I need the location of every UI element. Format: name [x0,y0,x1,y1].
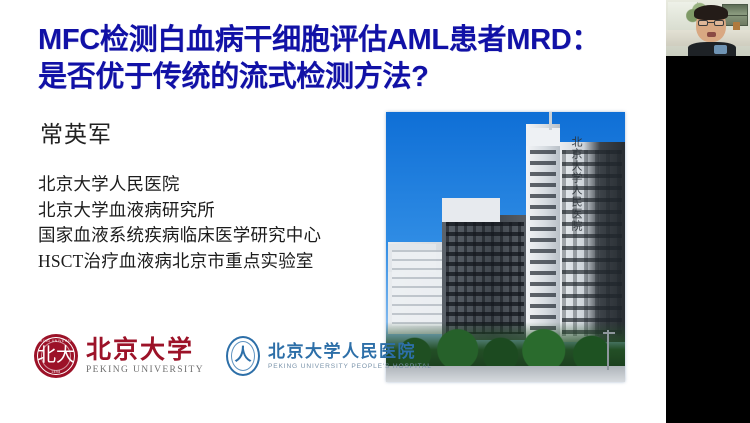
screen-capture-stage: MFC检测白血病干细胞评估AML患者MRD： 是否优于传统的流式检测方法? 常英… [0,0,750,423]
slide-title: MFC检测白血病干细胞评估AML患者MRD： 是否优于传统的流式检测方法? [38,22,658,96]
institution-logos: PEKING UNIVERSITY 北大 1898 北京大学 PEKING UN… [34,334,432,378]
photo-tower-spire [549,112,552,130]
seal-person-glyph: 人 [228,347,258,364]
photo-street-lamp-post [607,330,609,370]
photo-central-tower-windows [530,150,556,336]
presenter-glasses-bridge [708,22,714,23]
photo-mid-building-roof [442,198,500,222]
logo-peking-university: PEKING UNIVERSITY 北大 1898 北京大学 PEKING UN… [34,334,204,378]
presenter-shoulders [688,42,736,56]
peoples-hospital-wordmark: 北京大学人民医院 PEKING UNIVERSITY PEOPLE'S HOSP… [268,342,432,370]
presenter-webcam-tile[interactable] [666,0,750,56]
presenter-mouth [707,32,716,37]
affiliation-line: 北京大学人民医院 [38,172,321,198]
seal-ring-text-top: PEKING UNIVERSITY [34,339,78,343]
affiliation-line: 国家血液系统疾病临床医学研究中心 [38,223,321,249]
logo-peking-university-peoples-hospital: 人 北京大学人民医院 PEKING UNIVERSITY PEOPLE'S HO… [226,336,432,376]
seal-center-glyph: 北大 [34,346,78,365]
peoples-hospital-name-en: PEKING UNIVERSITY PEOPLE'S HOSPITAL [268,363,432,370]
peoples-hospital-name-cn: 北京大学人民医院 [268,342,432,361]
presenter-collar [714,45,727,54]
peking-university-seal-icon: PEKING UNIVERSITY 北大 1898 [34,334,78,378]
photo-vertical-signage: 北京大学人民医院 [568,136,582,232]
peking-university-wordmark: 北京大学 PEKING UNIVERSITY [86,337,204,375]
peking-university-name-en: PEKING UNIVERSITY [86,365,204,375]
affiliation-line: 北京大学血液病研究所 [38,198,321,224]
slide-title-line-1: MFC检测白血病干细胞评估AML患者MRD： [38,22,658,59]
slide-title-line-2: 是否优于传统的流式检测方法? [38,59,658,96]
photo-central-tower-cap [526,128,560,146]
affiliation-line: HSCT治疗血液病北京市重点实验室 [38,249,321,275]
video-conference-sidebar [666,0,750,423]
author-name: 常英军 [40,120,112,150]
photo-street-lamp-arm [603,332,615,334]
peking-university-name-cn: 北京大学 [86,337,204,364]
peoples-hospital-seal-icon: 人 [226,336,260,376]
affiliation-list: 北京大学人民医院 北京大学血液病研究所 国家血液系统疾病临床医学研究中心 HSC… [38,172,321,274]
presenter-glasses-right-lens [714,20,724,26]
photo-mid-building-windows [446,222,524,334]
presenter-glasses-left-lens [698,20,708,26]
presenter-hair [694,5,728,20]
presentation-slide: MFC检测白血病干细胞评估AML患者MRD： 是否优于传统的流式检测方法? 常英… [0,0,666,423]
seal-ring-text-bottom: 1898 [34,370,78,374]
